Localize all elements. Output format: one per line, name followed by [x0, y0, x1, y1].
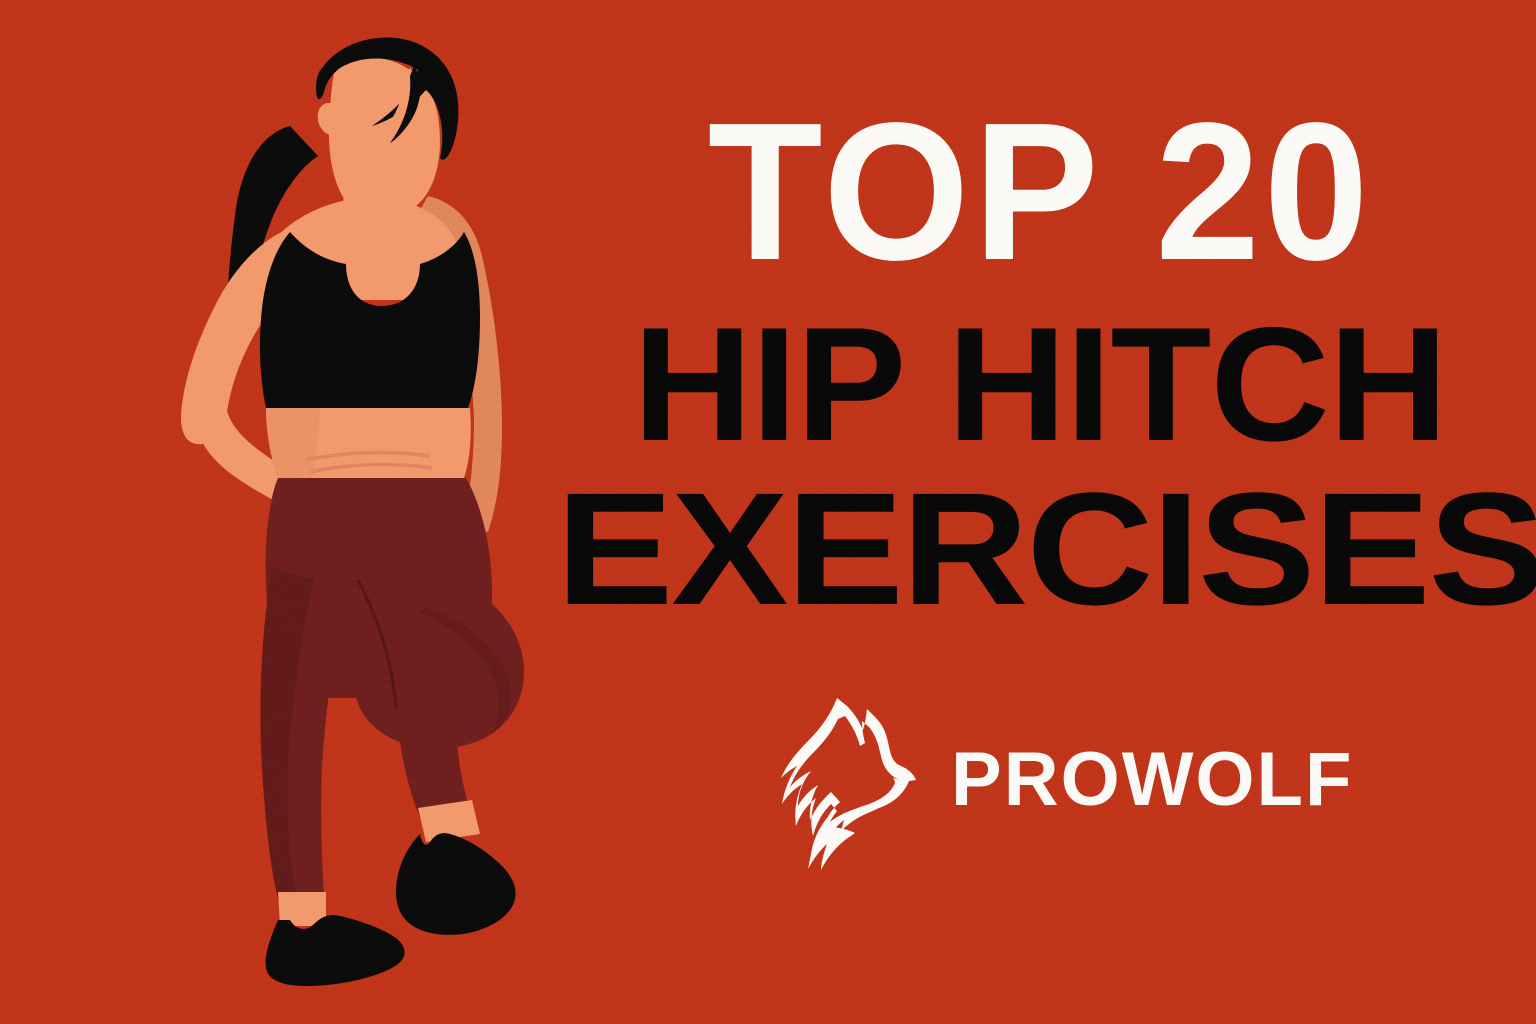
right-shoe — [396, 833, 516, 935]
poster-canvas: TOP 20 HIP HITCH EXERCISES PROWOLF — [0, 0, 1536, 1024]
headline-line-hip-hitch: HIP HITCH — [591, 306, 1489, 465]
headline-block: TOP 20 HIP HITCH EXERCISES — [600, 96, 1480, 628]
headline-line-top20: TOP 20 — [618, 96, 1463, 288]
brand-logo-lockup: PROWOLF — [775, 690, 1353, 870]
brand-wordmark: PROWOLF — [951, 742, 1353, 818]
left-shoe — [266, 915, 405, 986]
headline-line-exercises: EXERCISES — [556, 471, 1524, 628]
fitness-illustration — [110, 8, 610, 998]
wolf-head-icon — [775, 690, 925, 870]
